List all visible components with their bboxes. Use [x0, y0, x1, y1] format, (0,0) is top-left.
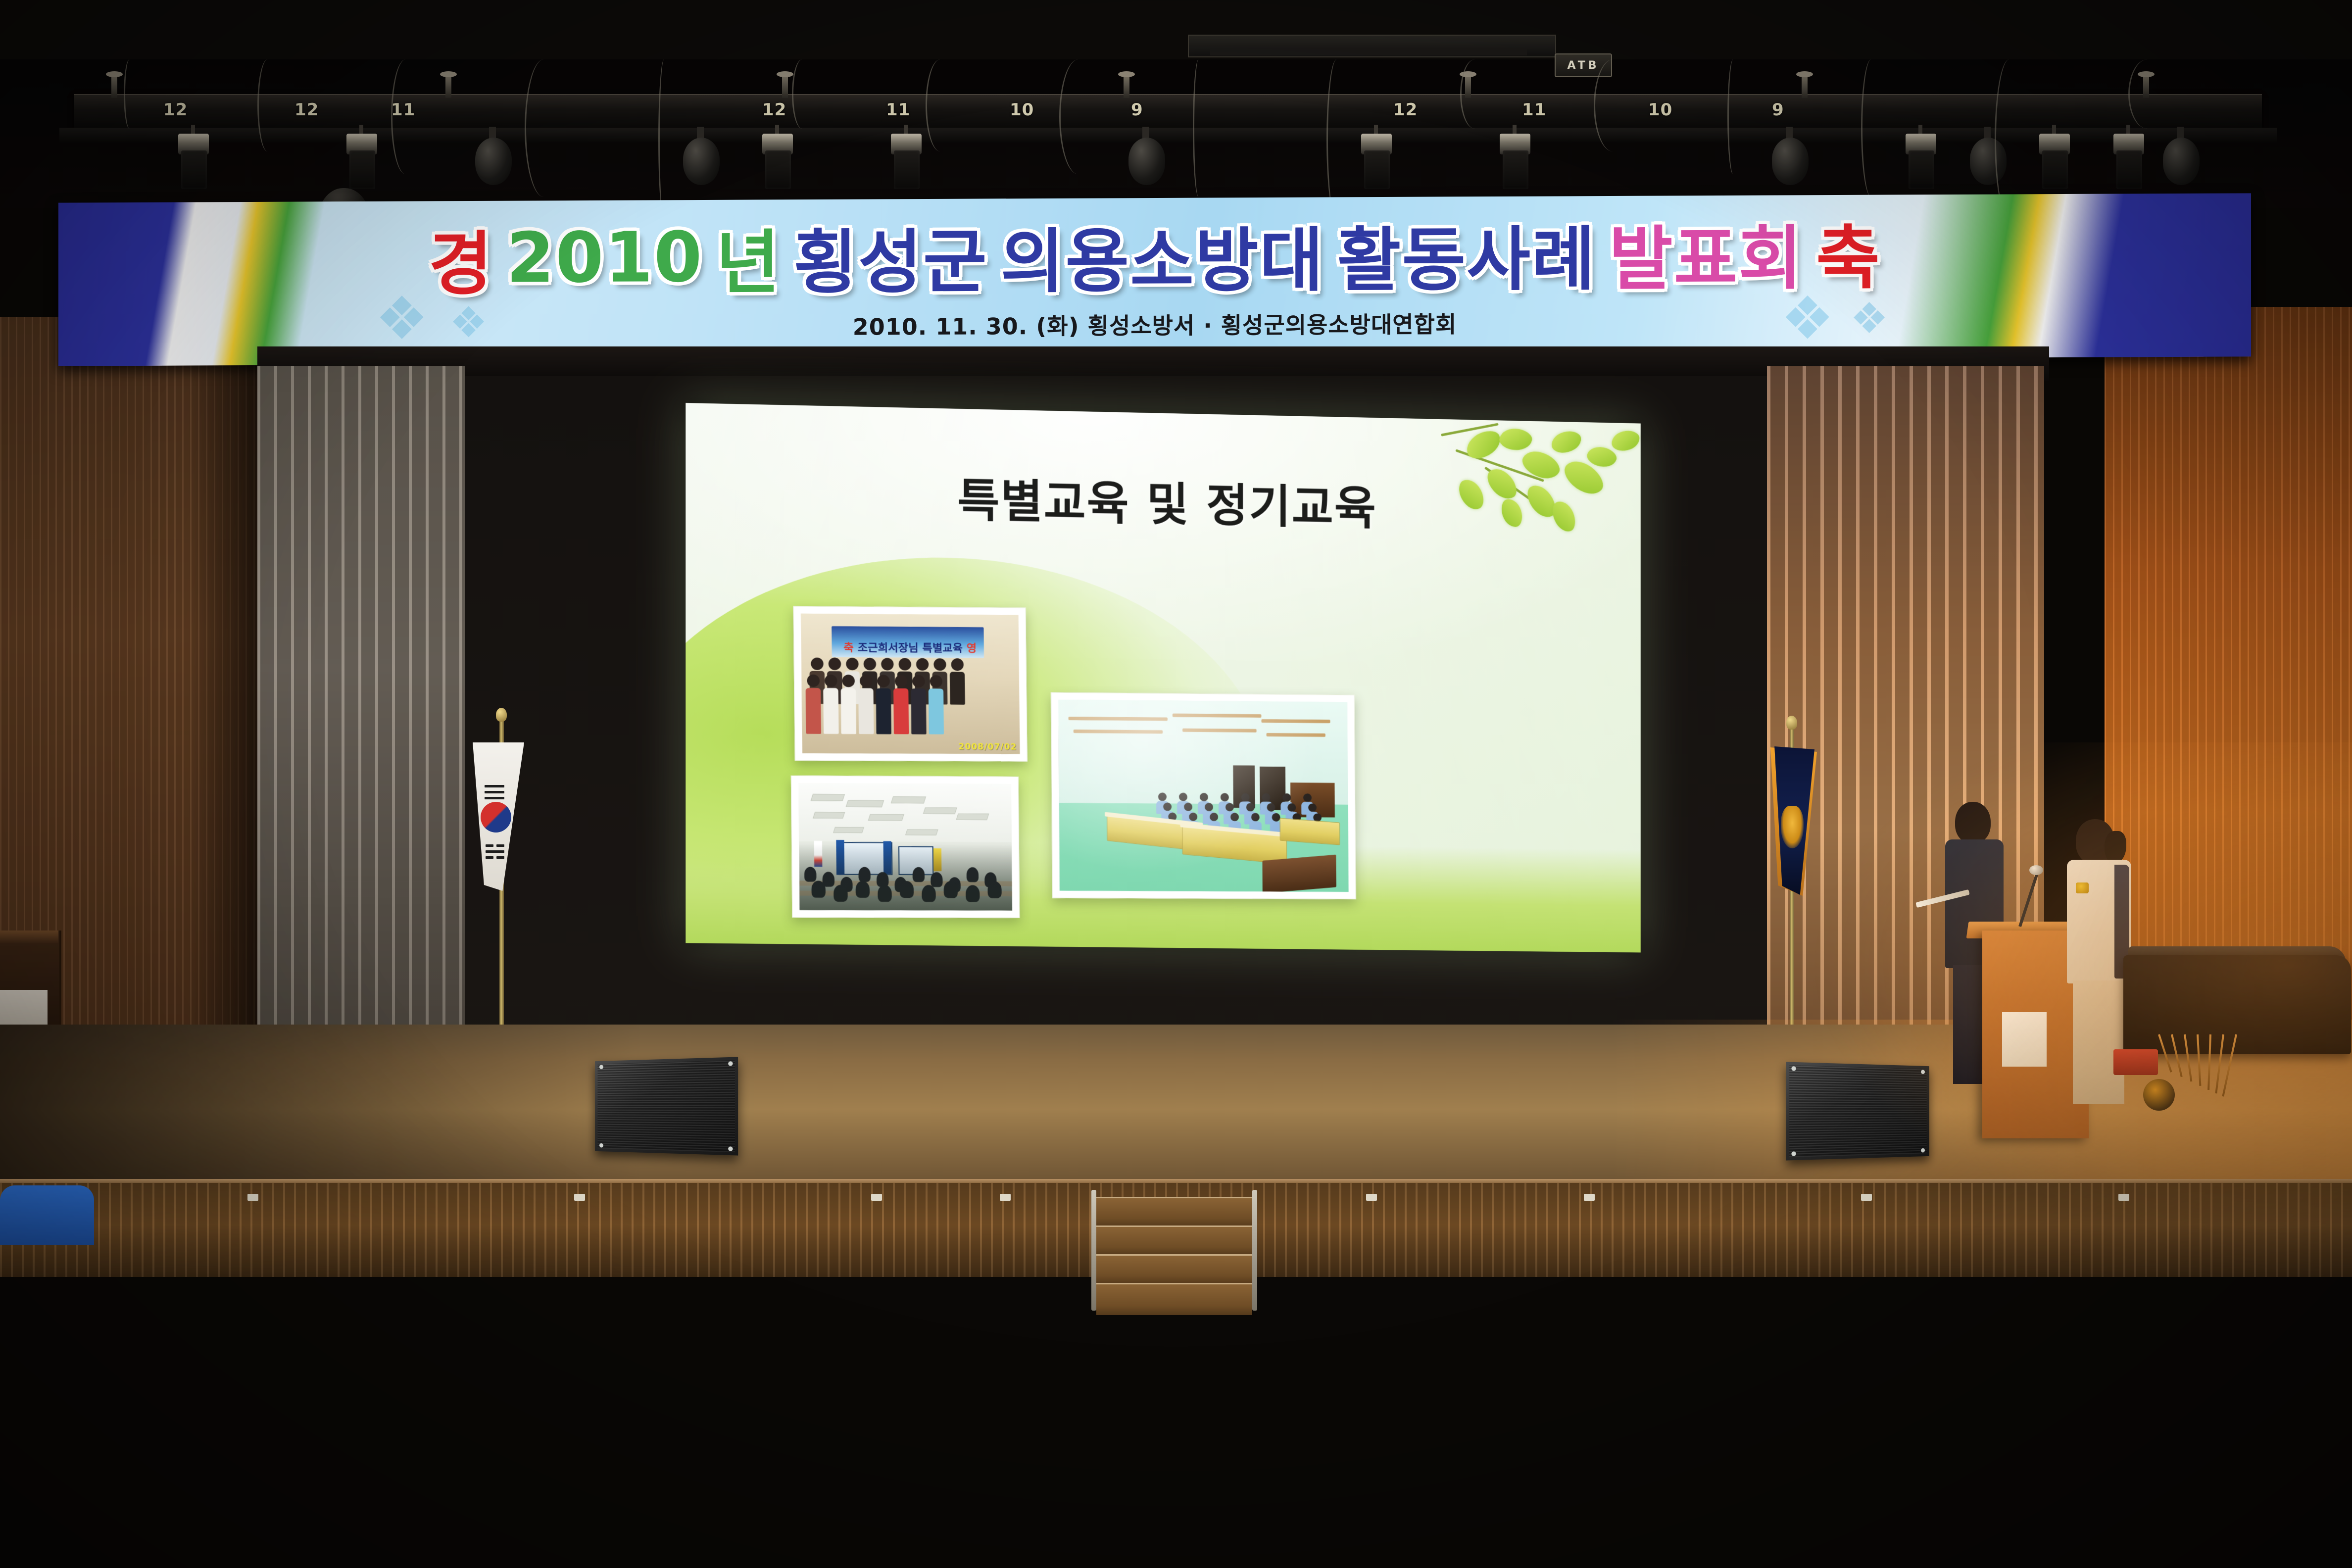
curtain-left — [257, 366, 465, 1124]
banner-title-row: 경 2010 년 횡성군 의용소방대 활동사례 발표회 축 — [58, 206, 2251, 304]
ceiling-light — [891, 796, 926, 803]
truss-hanger — [445, 74, 451, 98]
lighting-cable — [2128, 59, 2166, 129]
truss-marker: 9 — [1131, 100, 1143, 120]
truss-marker: 11 — [1522, 100, 1546, 120]
truss-hanger — [782, 74, 788, 98]
ceiling-soffit-inner — [1210, 48, 1527, 55]
piano-string — [2158, 1034, 2172, 1072]
leaf-icon — [1550, 430, 1583, 454]
slide-photo-group: 축 조근희서장님 특별교육 영 2008/07/02 — [793, 606, 1028, 761]
stage-floor-shadow-left — [0, 1025, 643, 1188]
photo-person — [911, 675, 927, 735]
photo-person — [928, 675, 944, 735]
blue-jacket-attendee — [0, 1185, 94, 1245]
leaf-icon — [1611, 430, 1640, 451]
truss-hanger — [1802, 74, 1808, 98]
ceiling-light — [905, 829, 938, 835]
ceiling-light — [956, 814, 989, 820]
lighting-cable — [926, 59, 955, 151]
stage-monitor-speaker-right — [1786, 1062, 1929, 1160]
ceiling-light — [846, 800, 884, 807]
left-alcove-top — [0, 931, 58, 943]
photo-person — [840, 675, 856, 734]
photo-person — [858, 675, 874, 734]
red-chair — [2113, 1049, 2158, 1075]
lighting-cable — [124, 59, 135, 129]
ceiling-beam — [0, 0, 2352, 59]
seat-rows — [0, 1185, 2352, 1245]
projection-screen: 특별교육 및 정기교육 축 조근희서장님 특별교육 영 2008/07/02 — [686, 403, 1640, 952]
ceiling-light — [833, 827, 864, 833]
truss-marker: 12 — [762, 100, 786, 120]
piano-wheel — [2143, 1079, 2175, 1111]
leaf-icon — [1463, 427, 1505, 462]
banner-seg-1: 년 — [716, 207, 781, 307]
banner-right-char: 축 — [1816, 202, 1881, 303]
truss-marker: 12 — [163, 100, 188, 120]
banner-seg-0: 2010 — [506, 217, 703, 298]
banner-seg-5: 발표회 — [1609, 202, 1803, 303]
lighting-cable — [1193, 59, 1204, 197]
piano-string — [2222, 1034, 2237, 1097]
truss-marker: 12 — [294, 100, 319, 120]
photo-person — [876, 675, 891, 734]
lighting-cable — [257, 59, 278, 151]
flag-finial-right — [1786, 716, 1797, 730]
ceiling-light — [868, 814, 904, 821]
microphone-head-icon — [2029, 865, 2043, 875]
event-banner: ❖ ❖ ❖ ❖ 경 2010 년 횡성군 의용소방대 활동사례 발표회 축 20… — [58, 193, 2251, 366]
photo-person — [805, 675, 821, 734]
truss-hanger — [111, 74, 117, 98]
group-photo-datestamp: 2008/07/02 — [958, 742, 1017, 752]
lighting-cable — [525, 59, 563, 197]
truss-marker: 12 — [1393, 100, 1418, 120]
photo-person — [893, 675, 909, 735]
banner-seg-2: 횡성군 — [793, 206, 987, 307]
truss-marker: 9 — [1772, 100, 1784, 120]
lighting-cable — [1460, 59, 1489, 129]
leaf-icon — [1498, 426, 1534, 453]
truss-marker: 10 — [1010, 100, 1034, 120]
audience-seating: 소대 — [0, 1185, 2352, 1568]
uniform-patch-icon — [2076, 882, 2089, 893]
podium-plate — [2002, 1012, 2047, 1067]
banner-left-char: 경 — [429, 208, 493, 309]
lighting-cable — [391, 59, 420, 174]
banner-seg-3: 의용소방대 — [1001, 205, 1324, 306]
slide-photo-classroom — [1051, 692, 1356, 899]
slide-photo-lecture-room — [791, 776, 1020, 918]
piano-string — [2207, 1034, 2211, 1090]
lighting-cable — [1727, 59, 1739, 174]
photo-person — [823, 675, 839, 734]
piano-string — [2215, 1034, 2224, 1094]
ceiling-light — [923, 807, 957, 814]
truss-marker: 10 — [1648, 100, 1672, 120]
group-photo-banner-text: 축 조근희서장님 특별교육 영 — [801, 638, 1019, 656]
ceiling-light — [811, 794, 845, 801]
lighting-cable — [1594, 59, 1632, 151]
flag-finial-left — [496, 708, 507, 722]
truss-marker: 11 — [886, 100, 910, 120]
stage-monitor-speaker-left — [595, 1057, 738, 1155]
auditorium-scene: ATB 12121112111091211109 ❖ ❖ ❖ ❖ 경 2010 … — [0, 0, 2352, 1568]
banner-seg-4: 활동사례 — [1337, 203, 1596, 304]
taeguk-circle — [481, 802, 511, 833]
truss-hanger — [1124, 74, 1129, 98]
org-flag-emblem-icon — [1781, 806, 1804, 848]
ceiling-light — [813, 812, 845, 818]
lighting-cable — [1059, 59, 1097, 174]
lighting-cable — [658, 59, 670, 220]
piano-string — [2184, 1034, 2192, 1082]
lighting-cable — [1861, 59, 1881, 197]
piano-string — [2197, 1034, 2201, 1086]
photo-shadow — [799, 844, 1012, 911]
photo-highlight — [1058, 700, 1349, 892]
lighting-cable — [1326, 59, 1347, 220]
lighting-cable — [792, 59, 812, 129]
photo-person — [950, 658, 965, 705]
piano-string — [2171, 1034, 2183, 1078]
